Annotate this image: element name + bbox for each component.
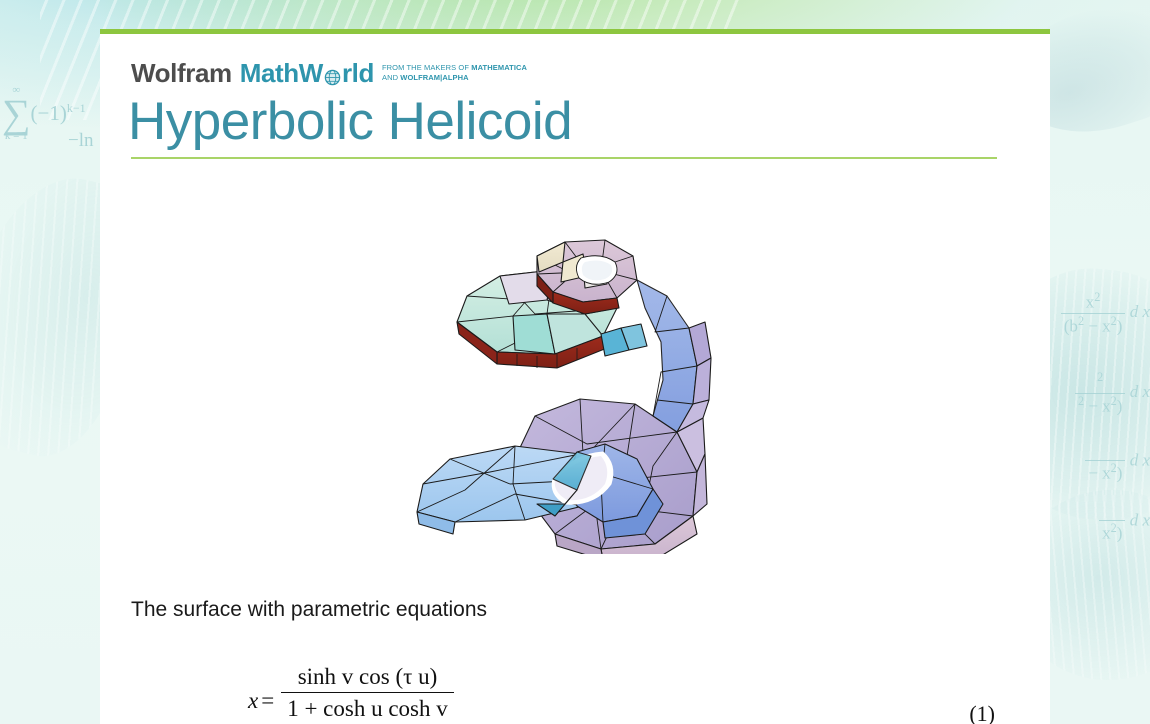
equation-equals-sign: = <box>261 664 281 714</box>
tagline-line-1: FROM THE MAKERS OF MATHEMATICA <box>382 63 527 72</box>
logo-world-rest-text: rld <box>342 60 374 86</box>
tagline-prefix-1: FROM THE MAKERS OF <box>382 63 471 72</box>
logo-tagline: FROM THE MAKERS OF MATHEMATICA AND WOLFR… <box>382 63 527 83</box>
helicoid-svg <box>405 204 745 554</box>
body-paragraph: The surface with parametric equations <box>131 596 487 623</box>
equation-numerator: sinh v cos (τ u) <box>281 664 454 693</box>
equation-denominator: 1 + cosh u cosh v <box>281 693 454 722</box>
logo-wolfram-text: Wolfram <box>131 60 232 86</box>
tagline-mathematica: MATHEMATICA <box>471 63 527 72</box>
equation-fraction: sinh v cos (τ u) 1 + cosh u cosh v <box>281 664 454 722</box>
site-logo[interactable]: Wolfram Math W rld FROM THE M <box>131 60 527 86</box>
logo-math-text: Math <box>240 60 299 86</box>
logo-w-text: W <box>299 60 323 86</box>
logo-mathworld-text: Math W rld <box>240 60 374 86</box>
equation-number: (1) <box>969 701 995 724</box>
tagline-line-2: AND WOLFRAM|ALPHA <box>382 73 469 82</box>
hyperbolic-helicoid-figure <box>100 189 1050 569</box>
content-card: Wolfram Math W rld FROM THE M <box>100 29 1050 724</box>
equation-1: x = sinh v cos (τ u) 1 + cosh u cosh v <box>248 664 454 722</box>
equation-block: x = sinh v cos (τ u) 1 + cosh u cosh v y… <box>100 664 1050 724</box>
page-title: Hyperbolic Helicoid <box>128 92 572 153</box>
equation-lhs: x <box>248 664 261 714</box>
globe-icon <box>323 65 342 84</box>
title-divider <box>131 157 997 159</box>
tagline-wolfram-alpha: WOLFRAM|ALPHA <box>400 73 468 82</box>
tagline-prefix-2: AND <box>382 73 400 82</box>
